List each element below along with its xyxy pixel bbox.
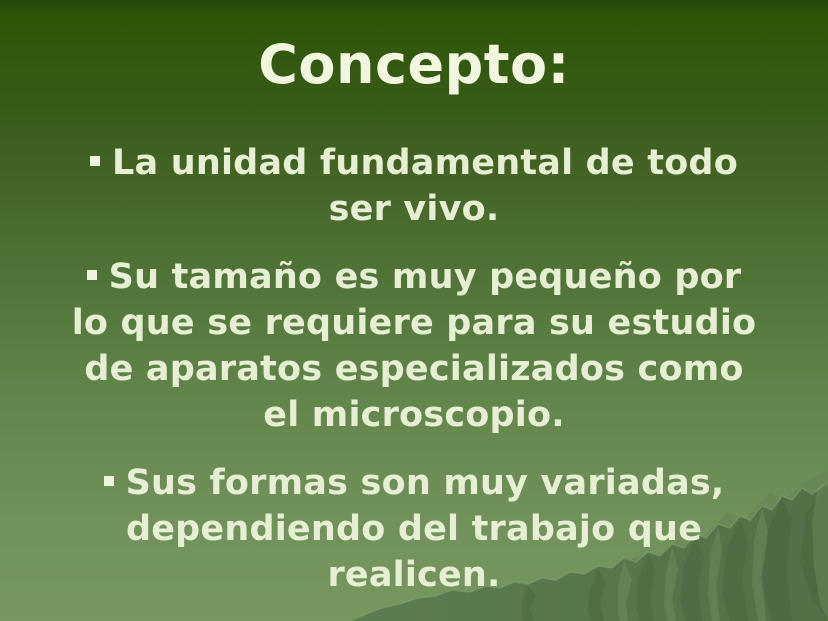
bullet-square-icon <box>90 156 100 166</box>
bullet-list: La unidad fundamental de todo ser vivo. … <box>64 140 764 598</box>
bullet-square-icon <box>104 476 114 486</box>
list-item: Su tamaño es muy pequeño por lo que se r… <box>64 254 764 438</box>
list-item: Sus formas son muy variadas, dependiendo… <box>64 460 764 598</box>
slide-content: Concepto: La unidad fundamental de todo … <box>0 0 828 621</box>
page-title: Concepto: <box>0 34 828 96</box>
list-item-text: Sus formas son muy variadas, dependiendo… <box>126 463 725 595</box>
list-item: La unidad fundamental de todo ser vivo. <box>64 140 764 232</box>
presentation-slide: Concepto: La unidad fundamental de todo … <box>0 0 828 621</box>
list-item-text: Su tamaño es muy pequeño por lo que se r… <box>72 257 757 435</box>
bullet-square-icon <box>87 270 97 280</box>
list-item-text: La unidad fundamental de todo ser vivo. <box>112 143 738 229</box>
